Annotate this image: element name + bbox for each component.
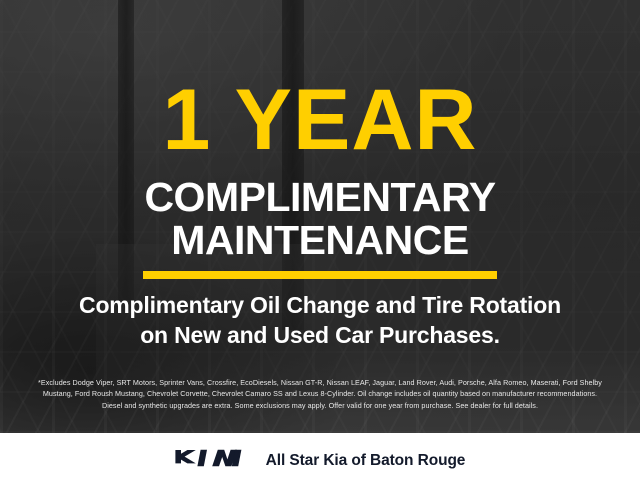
hero-section: 1 YEAR COMPLIMENTARY MAINTENANCE Complim… — [0, 0, 640, 433]
headline-year: 1 YEAR — [0, 78, 640, 162]
yellow-divider-rule — [143, 271, 497, 279]
disclaimer-line-3: Diesel and synthetic upgrades are extra.… — [14, 400, 626, 411]
dealer-name: All Star Kia of Baton Rouge — [266, 452, 466, 470]
kia-logo-icon — [175, 447, 249, 474]
offer-description: Complimentary Oil Change and Tire Rotati… — [0, 290, 640, 351]
headline-subtitle-line-2: MAINTENANCE — [0, 219, 640, 262]
hero-content: 1 YEAR COMPLIMENTARY MAINTENANCE Complim… — [0, 0, 640, 433]
offer-line-1: Complimentary Oil Change and Tire Rotati… — [79, 292, 561, 318]
disclaimer-line-2: Mustang, Ford Roush Mustang, Chevrolet C… — [14, 388, 626, 399]
disclaimer-text: *Excludes Dodge Viper, SRT Motors, Sprin… — [14, 377, 626, 411]
offer-line-2: on New and Used Car Purchases. — [0, 320, 640, 350]
promotional-banner: 1 YEAR COMPLIMENTARY MAINTENANCE Complim… — [0, 0, 640, 488]
footer-bar: All Star Kia of Baton Rouge — [0, 433, 640, 488]
headline-subtitle-line-1: COMPLIMENTARY — [144, 174, 495, 220]
disclaimer-line-1: *Excludes Dodge Viper, SRT Motors, Sprin… — [14, 377, 626, 388]
headline-subtitle: COMPLIMENTARY MAINTENANCE — [0, 176, 640, 261]
